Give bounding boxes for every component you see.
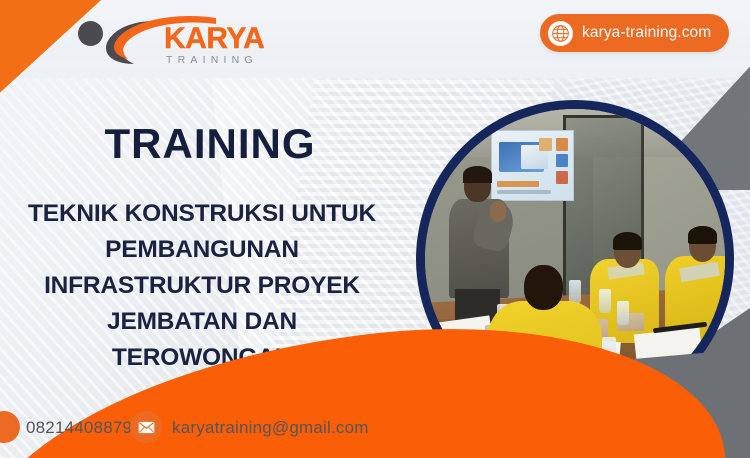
brand-logo[interactable]: KARYA TRAINING bbox=[78, 14, 278, 70]
subtitle-line-2: PEMBANGUNAN bbox=[0, 232, 412, 268]
envelope-icon[interactable] bbox=[130, 411, 162, 443]
page-title: TRAINING bbox=[0, 120, 420, 168]
subtitle-line-1: TEKNIK KONSTRUKSI UNTUK bbox=[0, 196, 412, 232]
logo-subtitle: TRAINING bbox=[166, 54, 258, 66]
subtitle-line-4: JEMBATAN DAN bbox=[0, 304, 412, 340]
logo-wordmark: KARYA bbox=[164, 22, 264, 56]
website-badge[interactable]: karya-training.com bbox=[540, 14, 729, 52]
logo-head-icon bbox=[78, 21, 103, 46]
email-address: karyatraining@gmail.com bbox=[172, 418, 369, 438]
subtitle-line-3: INFRASTRUKTUR PROYEK bbox=[0, 268, 412, 304]
globe-icon bbox=[548, 21, 573, 46]
phone-number: 082144088796 bbox=[26, 418, 142, 438]
website-url-label: karya-training.com bbox=[582, 24, 711, 42]
training-poster: KARYA TRAINING karya-training.com TRAINI… bbox=[0, 0, 750, 458]
